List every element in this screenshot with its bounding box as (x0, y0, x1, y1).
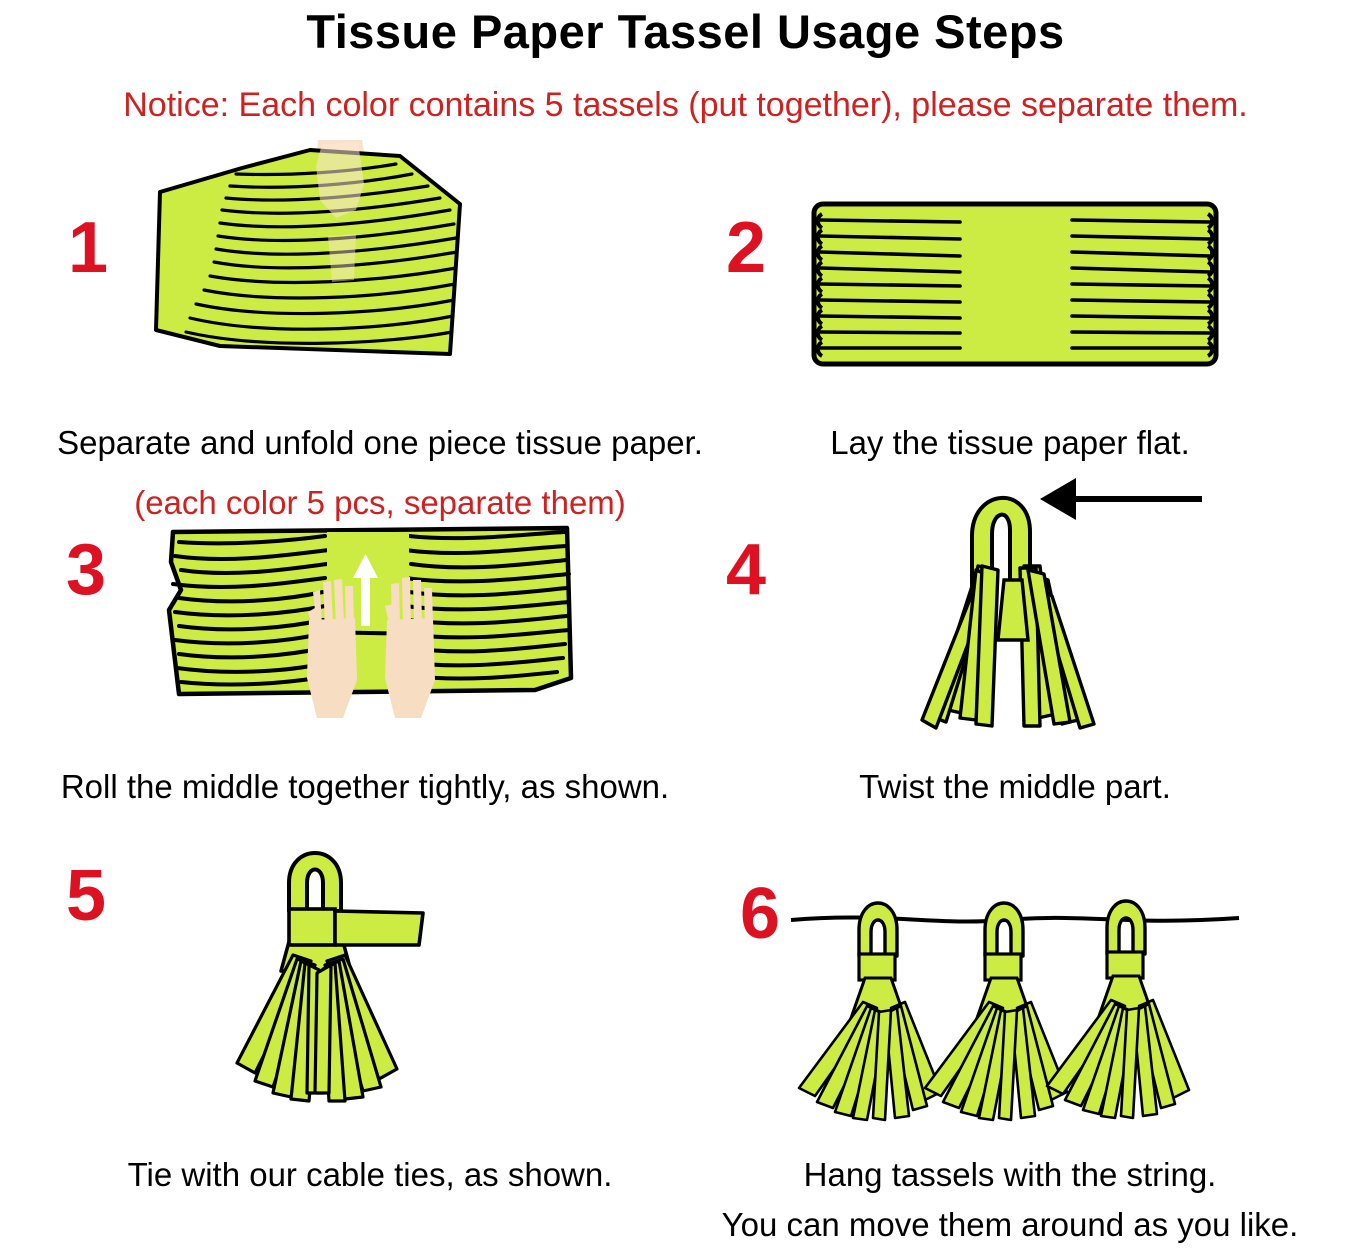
pointer-arrow-icon (1040, 478, 1202, 520)
step-2-illustration (810, 200, 1220, 370)
step-5-caption: Tie with our cable ties, as shown. (0, 1156, 740, 1194)
page-title: Tissue Paper Tassel Usage Steps (0, 4, 1371, 59)
cable-tie-band (289, 909, 335, 945)
tassel-3-loop (1107, 901, 1145, 954)
tassel-loop (289, 853, 341, 911)
step-number-5: 5 (66, 860, 106, 932)
uncut-middle-band (962, 207, 1070, 361)
tassel-1-strands (799, 1002, 941, 1120)
tassel-3 (1047, 901, 1189, 1118)
step-3-illustration (165, 520, 575, 750)
tassel-2-strands (925, 1002, 1067, 1120)
right-hand-icon (385, 577, 435, 718)
tassel-1-tie (859, 954, 895, 980)
step-2-caption: Lay the tissue paper flat. (700, 424, 1320, 462)
tassel-1-loop (859, 903, 897, 956)
step-3-caption: Roll the middle together tightly, as sho… (0, 768, 730, 806)
step-1-illustration (150, 140, 570, 400)
step-5-illustration (215, 835, 515, 1135)
notice-text: Notice: Each color contains 5 tassels (p… (0, 86, 1371, 125)
tassel-3-tie (1107, 952, 1143, 978)
step-4-caption: Twist the middle part. (690, 768, 1340, 806)
step-number-6: 6 (740, 878, 780, 950)
tassel-3-strands (1047, 1000, 1189, 1118)
step-1-subcaption: (each color 5 pcs, separate them) (0, 484, 760, 522)
step-4-illustration (880, 470, 1210, 760)
tassel-2-loop (985, 903, 1023, 956)
tassel-2 (925, 903, 1067, 1120)
cable-tie-tail (335, 911, 423, 945)
step-number-4: 4 (726, 534, 766, 606)
tassel-2-tie (985, 954, 1021, 980)
tassel-1 (799, 903, 941, 1120)
instruction-sheet: Tissue Paper Tassel Usage Steps Notice: … (0, 0, 1371, 1254)
step-number-1: 1 (68, 212, 108, 284)
step-6-illustration (785, 890, 1245, 1160)
left-strands (922, 566, 998, 728)
step-6-subcaption: You can move them around as you like. (680, 1206, 1340, 1244)
right-strands (1020, 566, 1094, 728)
step-1-caption: Separate and unfold one piece tissue pap… (0, 424, 760, 462)
right-fringe-strands (315, 955, 397, 1101)
step-number-2: 2 (726, 212, 766, 284)
finger-shape (328, 234, 356, 282)
step-number-3: 3 (66, 534, 106, 606)
left-fringe-strands (237, 955, 325, 1101)
step-6-caption: Hang tassels with the string. (680, 1156, 1340, 1194)
twist-stem (998, 580, 1028, 640)
